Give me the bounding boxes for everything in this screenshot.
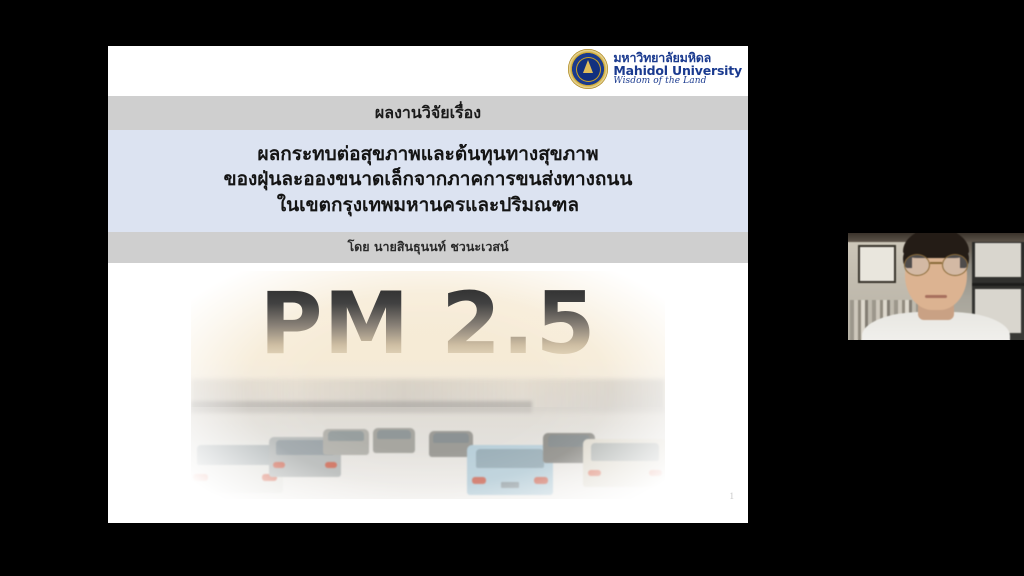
slide-title-band: ผลกระทบต่อสุขภาพและต้นทุนทางสุขภาพ ของฝุ… <box>108 130 748 232</box>
research-label-band: ผลงานวิจัยเรื่อง <box>108 96 748 130</box>
university-logo-text: มหาวิทยาลัยมหิดล Mahidol University Wisd… <box>613 51 742 87</box>
slide-page-number: 1 <box>730 491 735 501</box>
university-name-english: Mahidol University <box>613 64 742 77</box>
research-label: ผลงานวิจัยเรื่อง <box>375 101 481 126</box>
car-silhouette <box>373 428 415 453</box>
car-silhouette <box>583 439 667 487</box>
author-label: โดย นายสินธุนนท์ ชวนะเวสน์ <box>347 237 508 257</box>
screen-share-stage: มหาวิทยาลัยมหิดล Mahidol University Wisd… <box>0 0 1024 576</box>
title-line-3: ในเขตกรุงเทพมหานครและปริมณฑล <box>277 193 579 218</box>
title-line-1: ผลกระทบต่อสุขภาพและต้นทุนทางสุขภาพ <box>257 142 598 167</box>
presenter-video-tile[interactable] <box>848 233 1024 340</box>
presentation-slide[interactable]: มหาวิทยาลัยมหิดล Mahidol University Wisd… <box>108 46 748 523</box>
mahidol-emblem-icon <box>568 49 608 89</box>
slide-photo-area: PM 2.5 1 <box>108 263 748 507</box>
university-tagline: Wisdom of the Land <box>613 77 742 87</box>
university-logo: มหาวิทยาลัยมหิดล Mahidol University Wisd… <box>568 49 742 89</box>
slide-header: มหาวิทยาลัยมหิดล Mahidol University Wisd… <box>108 46 748 96</box>
eyeglasses-icon <box>904 254 968 274</box>
car-silhouette <box>323 429 369 455</box>
car-silhouette <box>467 445 553 495</box>
author-band: โดย นายสินธุนนท์ ชวนะเวสน์ <box>108 232 748 263</box>
presenter-figure <box>876 242 996 340</box>
title-line-2: ของฝุ่นละอองขนาดเล็กจากภาคการขนส่งทางถนน <box>224 167 633 192</box>
pm25-headline: PM 2.5 <box>108 281 748 367</box>
university-name-thai: มหาวิทยาลัยมหิดล <box>613 51 742 64</box>
presenter-mouth <box>925 295 947 298</box>
